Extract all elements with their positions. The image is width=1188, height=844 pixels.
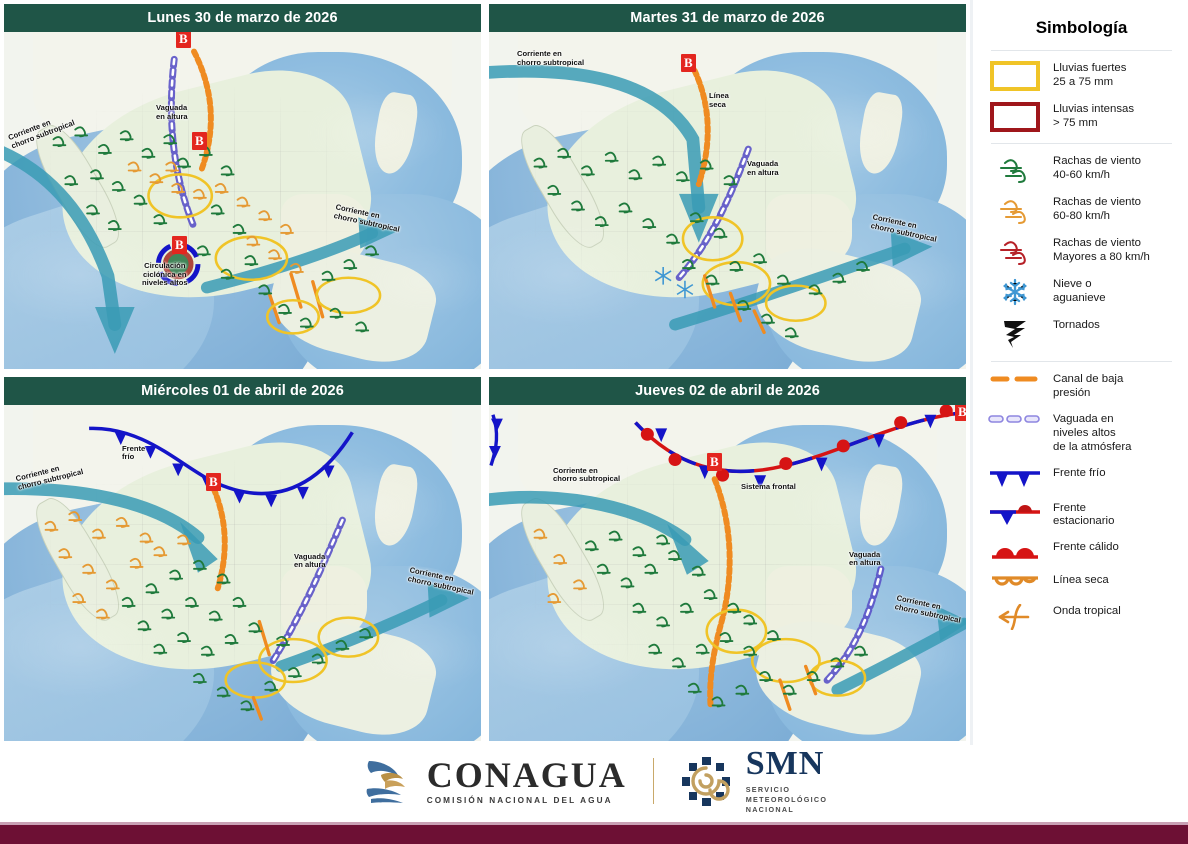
- snow-icons: [655, 267, 693, 298]
- legend-label: Tornados: [1053, 318, 1100, 333]
- legend-item-rachas-60-80[interactable]: Rachas de viento 60-80 km/h: [987, 195, 1176, 225]
- legend-item-frente-calido[interactable]: Frente cálido: [987, 540, 1176, 562]
- legend-label: Frente frío: [1053, 466, 1106, 481]
- snowflake-icon: [987, 277, 1043, 307]
- low-pressure-marker: B: [192, 132, 207, 150]
- wind-gust-red-icon: [987, 236, 1043, 266]
- legend-item-linea-seca[interactable]: Línea seca: [987, 573, 1176, 593]
- dry-line-icon: [987, 573, 1043, 593]
- panel-title-lunes: Lunes 30 de marzo de 2026: [4, 4, 481, 32]
- low-pressure-marker: B: [206, 473, 221, 491]
- forecast-panel-miercoles[interactable]: Miércoles 01 de abril de 2026: [2, 375, 483, 744]
- rain-box-red-icon: [987, 102, 1043, 132]
- legend-item-lluvias-fuertes[interactable]: Lluvias fuertes 25 a 75 mm: [987, 61, 1176, 91]
- legend-item-tornados[interactable]: Tornados: [987, 318, 1176, 350]
- legend-label: Rachas de viento 60-80 km/h: [1053, 195, 1141, 224]
- smn-logo: SMN SERVICIO METEOROLÓGICO NACIONAL: [680, 747, 828, 814]
- wind-gust-layer-lunes: [4, 32, 481, 369]
- legend-divider: [991, 143, 1172, 144]
- smn-spiral-icon: [680, 755, 732, 807]
- forecast-map-grid: Lunes 30 de marzo de 2026: [0, 0, 970, 745]
- conagua-tagline: COMISIÓN NACIONAL DEL AGUA: [427, 797, 627, 805]
- legend-item-rachas-40-60[interactable]: Rachas de viento 40-60 km/h: [987, 154, 1176, 184]
- legend-label: Lluvias fuertes 25 a 75 mm: [1053, 61, 1126, 90]
- tornado-icon: [987, 318, 1043, 350]
- low-pressure-marker: B: [707, 453, 722, 471]
- legend-title: Simbología: [987, 18, 1176, 38]
- map-lunes[interactable]: Corriente en chorro subtropical Vaguada …: [4, 32, 481, 369]
- map-martes[interactable]: Corriente en chorro subtropical Línea se…: [489, 32, 966, 369]
- legend-divider: [991, 50, 1172, 51]
- smn-wordmark: SMN: [746, 747, 828, 781]
- legend-label: Frente estacionario: [1053, 501, 1114, 530]
- panel-title-martes: Martes 31 de marzo de 2026: [489, 4, 966, 32]
- panel-title-jueves: Jueves 02 de abril de 2026: [489, 377, 966, 405]
- upper-level-trough-icon: [987, 412, 1043, 426]
- low-pressure-channel-icon: [987, 372, 1043, 386]
- conagua-eagle-icon: [361, 755, 413, 807]
- legend-item-onda-tropical[interactable]: Onda tropical: [987, 604, 1176, 630]
- conagua-logo: CONAGUA COMISIÓN NACIONAL DEL AGUA: [361, 755, 627, 807]
- panel-title-miercoles: Miércoles 01 de abril de 2026: [4, 377, 481, 405]
- weather-forecast-page: Lunes 30 de marzo de 2026: [0, 0, 1188, 844]
- tropical-wave-icon: [987, 604, 1043, 630]
- stationary-front-icon: [987, 501, 1043, 527]
- low-pressure-marker: B: [176, 32, 191, 48]
- legend-label: Rachas de viento Mayores a 80 km/h: [1053, 236, 1150, 265]
- forecast-panel-lunes[interactable]: Lunes 30 de marzo de 2026: [2, 2, 483, 371]
- legend-item-lluvias-intensas[interactable]: Lluvias intensas > 75 mm: [987, 102, 1176, 132]
- legend-item-frente-frio[interactable]: Frente frío: [987, 466, 1176, 490]
- wind-gust-green-icon: [987, 154, 1043, 184]
- legend-label: Canal de baja presión: [1053, 372, 1123, 401]
- wind-gust-layer-martes: [489, 32, 966, 369]
- legend-item-rachas-mayores-80[interactable]: Rachas de viento Mayores a 80 km/h: [987, 236, 1176, 266]
- forecast-panel-martes[interactable]: Martes 31 de marzo de 2026: [487, 2, 968, 371]
- logo-divider: [653, 758, 654, 804]
- legend-divider: [991, 361, 1172, 362]
- legend-label: Línea seca: [1053, 573, 1109, 588]
- legend-item-vaguada-niveles-altos[interactable]: Vaguada en niveles altos de la atmósfera: [987, 412, 1176, 455]
- legend-panel: Simbología Lluvias fuertes 25 a 75 mm Ll…: [970, 0, 1188, 745]
- legend-label: Lluvias intensas > 75 mm: [1053, 102, 1134, 131]
- smn-tagline: SERVICIO METEOROLÓGICO NACIONAL: [746, 785, 828, 814]
- footer-logos: CONAGUA COMISIÓN NACIONAL DEL AGUA SM: [0, 745, 1188, 817]
- cold-front-icon: [987, 466, 1043, 490]
- low-pressure-marker: B: [681, 54, 696, 72]
- legend-label: Rachas de viento 40-60 km/h: [1053, 154, 1141, 183]
- wind-gust-layer-miercoles: [4, 405, 481, 742]
- warm-front-icon: [987, 540, 1043, 562]
- legend-label: Onda tropical: [1053, 604, 1121, 619]
- map-jueves[interactable]: Corriente en chorro subtropical Sistema …: [489, 405, 966, 742]
- forecast-panel-jueves[interactable]: Jueves 02 de abril de 2026: [487, 375, 968, 744]
- low-pressure-marker: B: [955, 405, 966, 421]
- bottom-bar: [0, 825, 1188, 844]
- legend-item-canal-baja-presion[interactable]: Canal de baja presión: [987, 372, 1176, 401]
- wind-gust-orange-icon: [987, 195, 1043, 225]
- legend-label: Vaguada en niveles altos de la atmósfera: [1053, 412, 1132, 455]
- legend-item-nieve[interactable]: Nieve o aguanieve: [987, 277, 1176, 307]
- legend-label: Nieve o aguanieve: [1053, 277, 1106, 306]
- legend-label: Frente cálido: [1053, 540, 1119, 555]
- low-pressure-marker: B: [172, 236, 187, 254]
- map-miercoles[interactable]: Frente frío Corriente en chorro subtropi…: [4, 405, 481, 742]
- legend-item-frente-estacionario[interactable]: Frente estacionario: [987, 501, 1176, 530]
- wind-gust-layer-jueves: [489, 405, 966, 742]
- rain-box-yellow-icon: [987, 61, 1043, 91]
- conagua-wordmark: CONAGUA: [427, 757, 627, 793]
